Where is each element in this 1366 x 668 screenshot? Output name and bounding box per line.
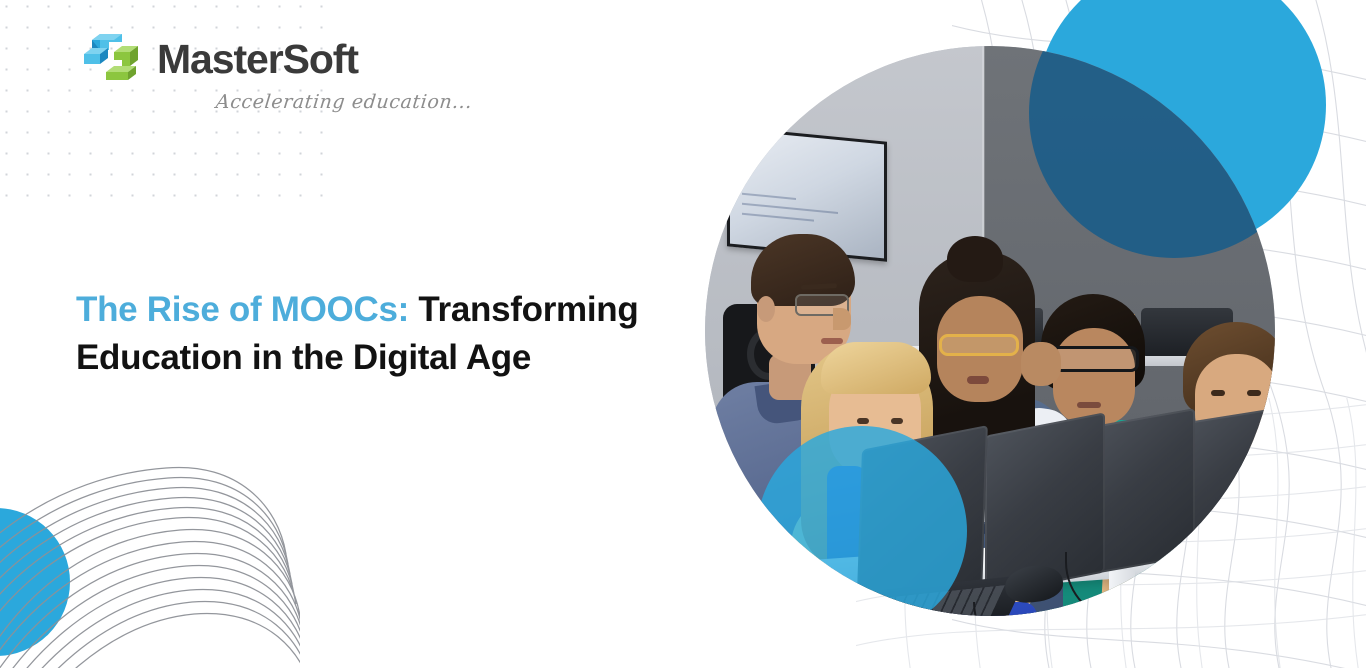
teacher-ear: [757, 296, 775, 322]
laptop-cable: [973, 602, 1043, 616]
logo-wordmark: MasterSoft: [157, 39, 358, 80]
page-title: The Rise of MOOCs: Transforming Educatio…: [76, 286, 706, 383]
teacher-nose: [833, 308, 851, 330]
logo-tagline: Accelerating education...: [215, 91, 474, 113]
blonde-girl-fringe: [821, 342, 931, 394]
blog-banner: MasterSoft Accelerating education... The…: [0, 0, 1366, 668]
boy-teal-mouth: [1077, 402, 1101, 408]
mastersoft-pinwheel-logo-icon: [76, 30, 148, 88]
fingerprint-wave-pattern: [0, 418, 300, 668]
boy-right-eye: [1211, 390, 1225, 396]
hero-photo-circle: [705, 46, 1275, 616]
boy-right-eye: [1247, 390, 1261, 396]
decorative-circle-bottom-left: [0, 508, 70, 656]
classroom-photo: [705, 46, 1275, 616]
girl-denim-mouth: [967, 376, 989, 384]
teacher-mouth: [821, 338, 843, 344]
girl-denim-hand: [1021, 342, 1061, 386]
boy-teal-face: [1053, 328, 1135, 426]
girl-yellow-glasses: [939, 334, 1019, 356]
mastersoft-logo[interactable]: MasterSoft Accelerating education...: [76, 30, 472, 113]
headline-block: The Rise of MOOCs: Transforming Educatio…: [76, 286, 706, 383]
headline-accent: The Rise of MOOCs:: [76, 290, 409, 329]
blonde-girl-eye: [857, 418, 869, 424]
blonde-girl-eye: [891, 418, 903, 424]
girl-denim-bun: [947, 236, 1003, 282]
